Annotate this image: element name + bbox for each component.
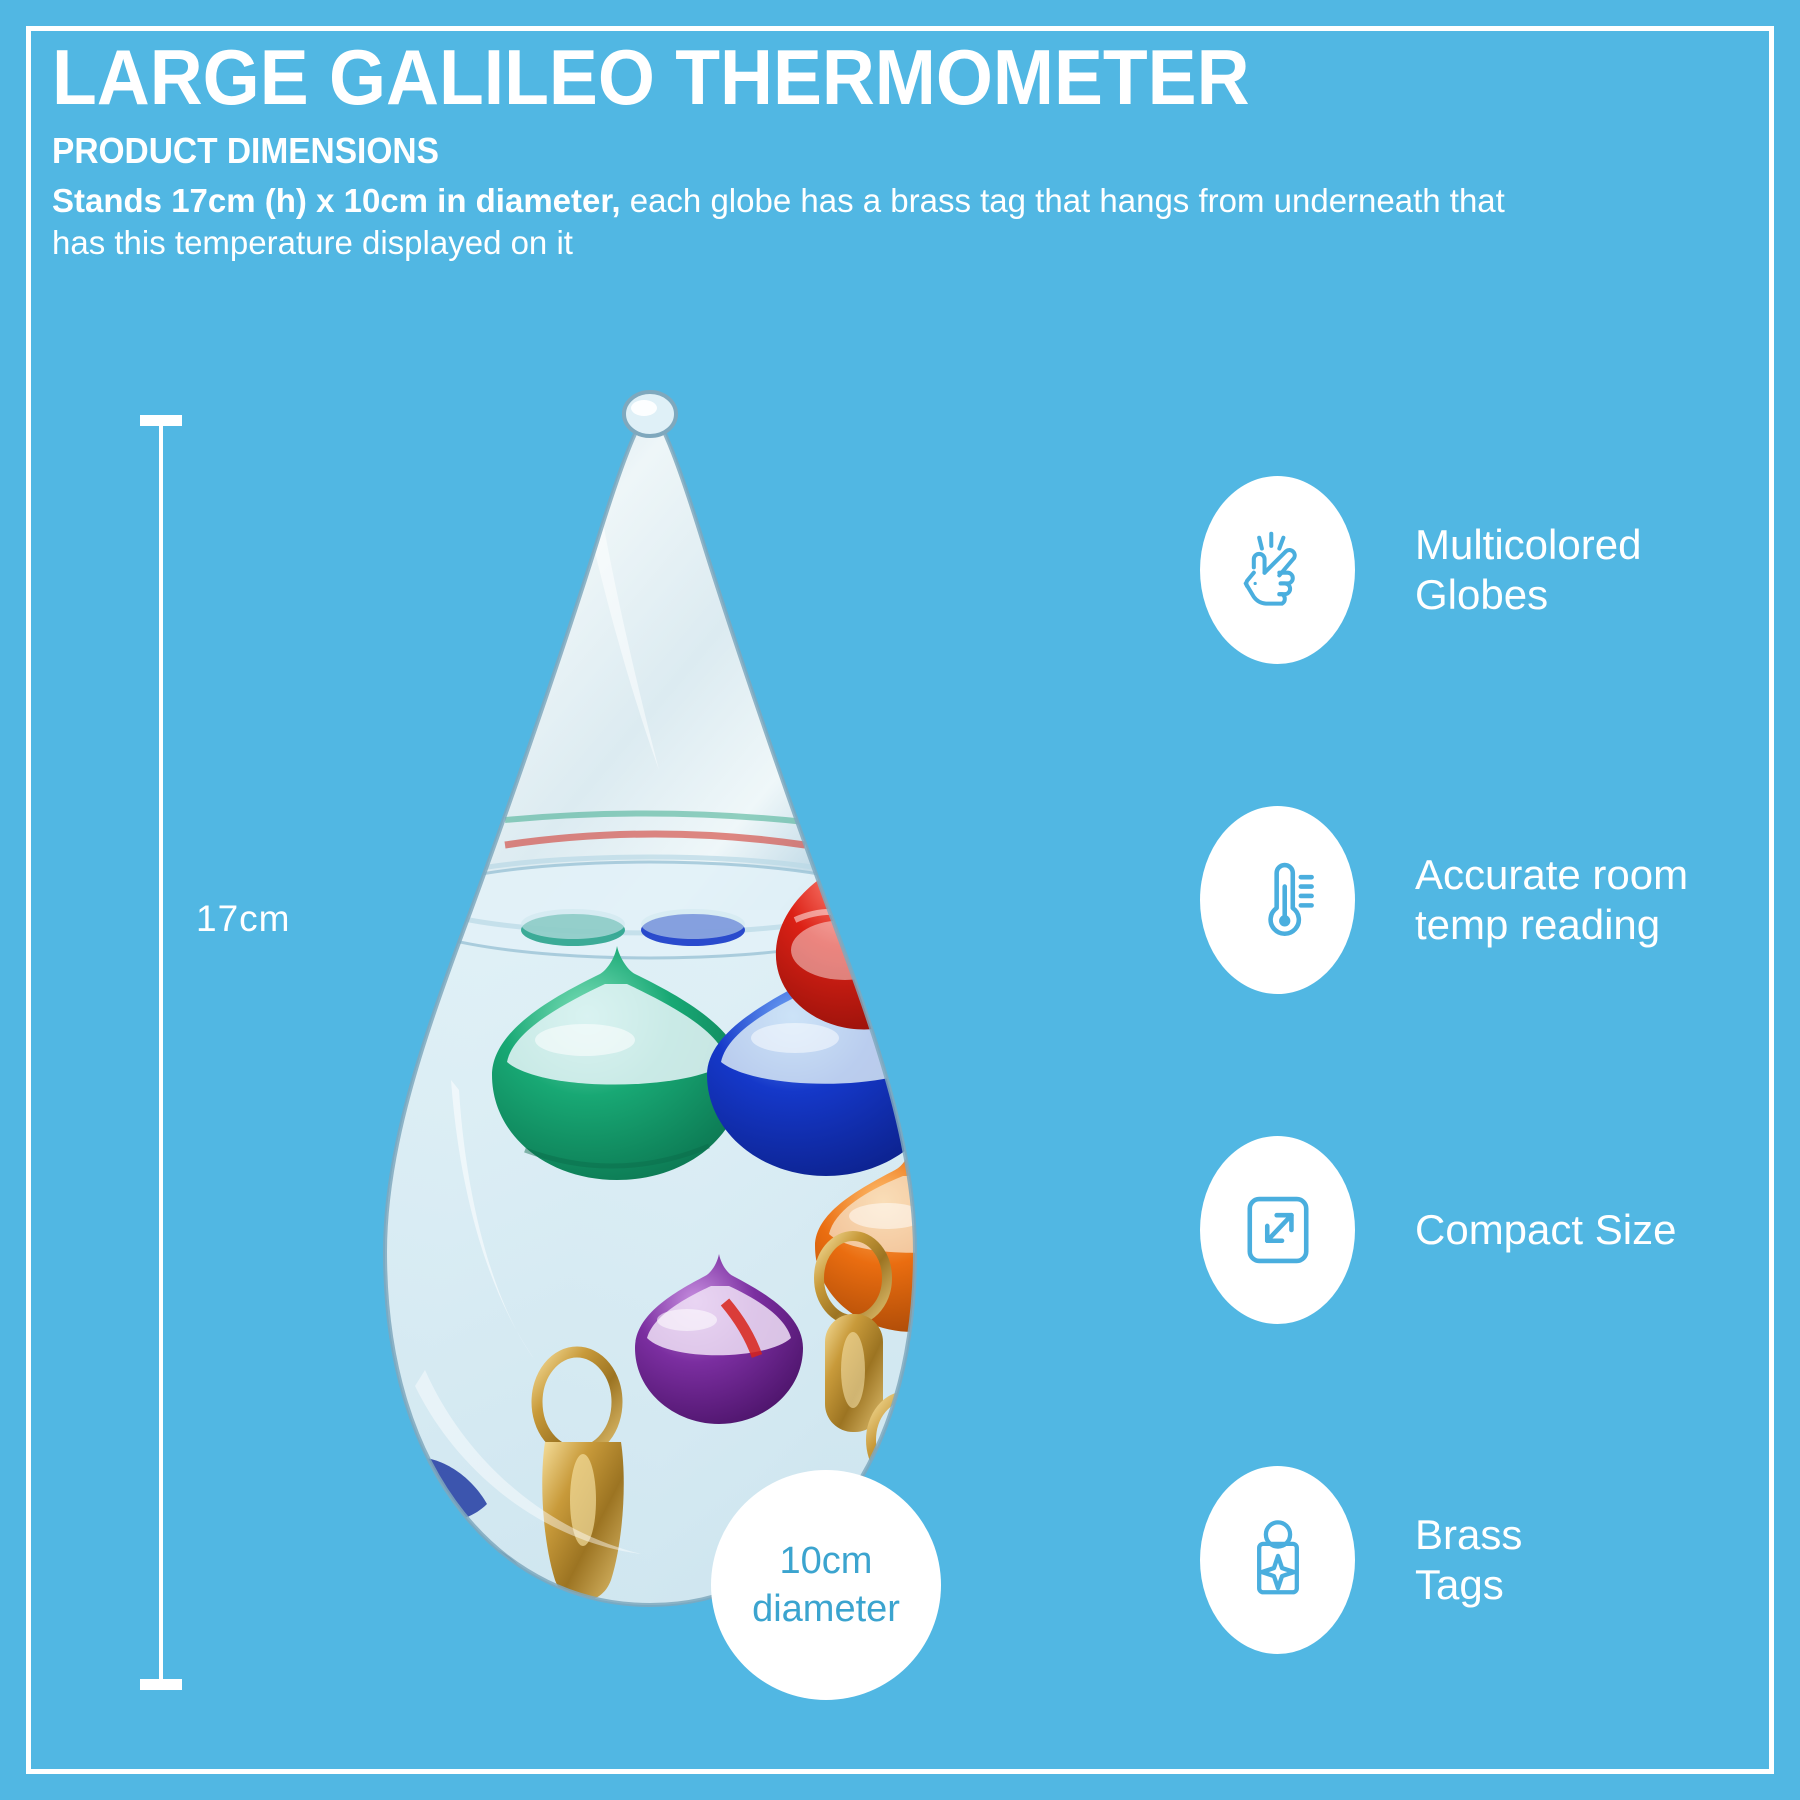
feature-label: Brass Tags bbox=[1415, 1510, 1522, 1610]
feature-item-compact-size: Compact Size bbox=[1200, 1130, 1760, 1330]
diameter-badge: 10cm diameter bbox=[711, 1470, 941, 1700]
feature-label: Accurate room temp reading bbox=[1415, 850, 1688, 950]
feature-icon-badge bbox=[1200, 806, 1355, 994]
page-title: LARGE GALILEO THERMOMETER bbox=[52, 34, 1490, 120]
feature-label-line1: Brass bbox=[1415, 1510, 1522, 1560]
feature-label-line1: Accurate room bbox=[1415, 850, 1688, 900]
feature-label-line2: Tags bbox=[1415, 1560, 1522, 1610]
brass-tag-left-upper bbox=[375, 886, 459, 962]
glass-tip-highlight bbox=[631, 400, 657, 416]
feature-icon-badge bbox=[1200, 1136, 1355, 1324]
hanging-tag-icon bbox=[1235, 1517, 1321, 1603]
feature-label-line1: Compact Size bbox=[1415, 1205, 1676, 1255]
feature-icon-badge bbox=[1200, 1466, 1355, 1654]
description-bold: Stands 17cm (h) x 10cm in diameter, bbox=[52, 182, 621, 219]
description-text: Stands 17cm (h) x 10cm in diameter, each… bbox=[52, 180, 1552, 264]
diameter-badge-label: diameter bbox=[752, 1585, 900, 1633]
feature-label-line1: Multicolored bbox=[1415, 520, 1641, 570]
height-measure-label: 17cm bbox=[196, 898, 290, 940]
feature-label: Multicolored Globes bbox=[1415, 520, 1641, 620]
feature-item-accurate-temp: Accurate room temp reading bbox=[1200, 800, 1760, 1000]
submerged-disc-blue-gloss bbox=[641, 909, 745, 939]
submerged-disc-teal-gloss bbox=[521, 909, 625, 939]
thermometer-icon bbox=[1235, 857, 1321, 943]
feature-item-multicolored-globes: Multicolored Globes bbox=[1200, 470, 1760, 670]
feature-icon-badge bbox=[1200, 476, 1355, 664]
resize-arrows-icon bbox=[1235, 1187, 1321, 1273]
feature-label-line2: temp reading bbox=[1415, 900, 1688, 950]
feature-label-line2: Globes bbox=[1415, 570, 1641, 620]
feature-item-brass-tags: Brass Tags bbox=[1200, 1460, 1760, 1660]
height-measure-line bbox=[159, 415, 163, 1690]
poster-canvas: LARGE GALILEO THERMOMETER PRODUCT DIMENS… bbox=[0, 0, 1800, 1800]
feature-label: Compact Size bbox=[1415, 1205, 1676, 1255]
section-subtitle: PRODUCT DIMENSIONS bbox=[52, 128, 1475, 174]
diameter-badge-value: 10cm bbox=[780, 1537, 873, 1585]
feature-list: Multicolored Globes Accurate room tem bbox=[1200, 470, 1760, 1660]
header-block: LARGE GALILEO THERMOMETER PRODUCT DIMENS… bbox=[52, 34, 1582, 264]
product-image-galileo-thermometer bbox=[255, 390, 1045, 1720]
hand-tap-icon bbox=[1235, 527, 1321, 613]
